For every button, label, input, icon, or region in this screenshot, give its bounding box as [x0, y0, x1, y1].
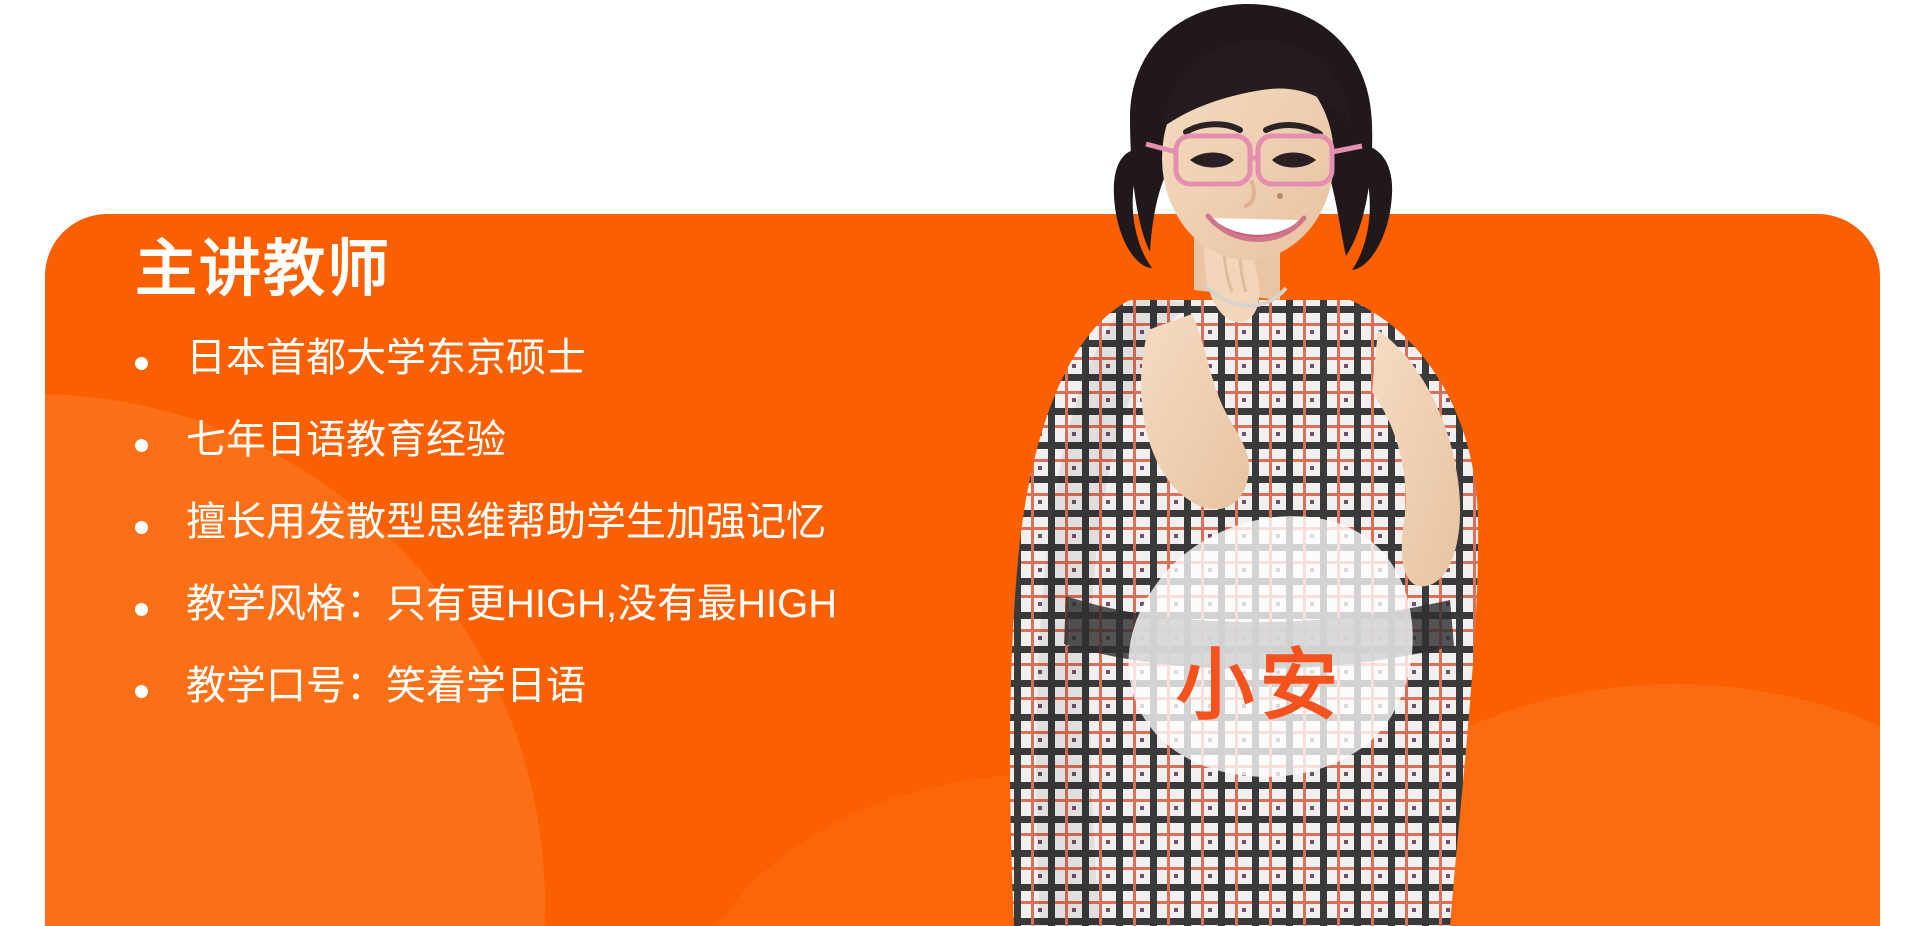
teacher-name-badge: 小安: [1095, 490, 1425, 790]
bullet-dot-icon: [135, 439, 148, 452]
bullet-dot-icon: [135, 685, 148, 698]
list-item: 日本首都大学东京硕士: [135, 337, 1035, 379]
list-item-label: 擅长用发散型思维帮助学生加强记忆: [186, 501, 826, 543]
teacher-name-label: 小安: [1095, 490, 1425, 790]
bullet-dot-icon: [135, 603, 148, 616]
list-item: 教学口号：笑着学日语: [135, 665, 1035, 707]
list-item: 教学风格：只有更HIGH,没有最HIGH: [135, 583, 1035, 625]
promo-banner: 主讲教师 日本首都大学东京硕士 七年日语教育经验 擅长用发散型思维帮助学生加强记…: [0, 0, 1920, 926]
teacher-credentials-list: 日本首都大学东京硕士 七年日语教育经验 擅长用发散型思维帮助学生加强记忆 教学风…: [135, 337, 1035, 707]
teacher-info-card: 主讲教师 日本首都大学东京硕士 七年日语教育经验 擅长用发散型思维帮助学生加强记…: [45, 214, 1880, 926]
bullet-dot-icon: [135, 521, 148, 534]
bullet-dot-icon: [135, 357, 148, 370]
list-item-label: 七年日语教育经验: [186, 419, 506, 461]
list-item-label: 日本首都大学东京硕士: [186, 337, 586, 379]
page-title: 主讲教师: [135, 239, 1035, 301]
list-item-label: 教学口号：笑着学日语: [186, 665, 586, 707]
teacher-info-content: 主讲教师 日本首都大学东京硕士 七年日语教育经验 擅长用发散型思维帮助学生加强记…: [135, 239, 1035, 707]
list-item: 擅长用发散型思维帮助学生加强记忆: [135, 501, 1035, 543]
list-item: 七年日语教育经验: [135, 419, 1035, 461]
list-item-label: 教学风格：只有更HIGH,没有最HIGH: [186, 583, 837, 625]
